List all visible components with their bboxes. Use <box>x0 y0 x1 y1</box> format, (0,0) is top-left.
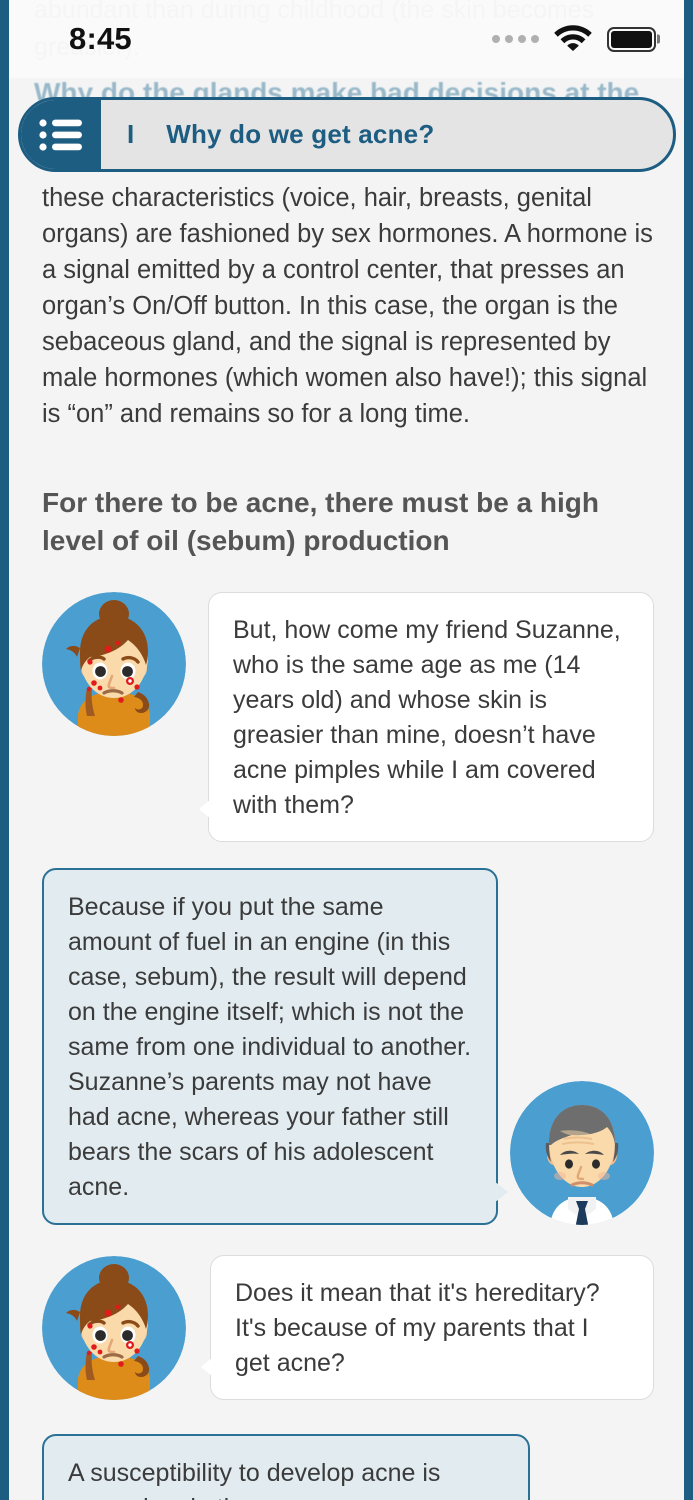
page-edge-right <box>684 0 693 1500</box>
doctor-avatar <box>510 1081 654 1225</box>
status-clock: 8:45 <box>69 21 132 57</box>
chapter-title-area[interactable]: I Why do we get acne? <box>101 100 673 169</box>
chapter-title: Why do we get acne? <box>166 119 434 150</box>
page-edge-left <box>0 0 9 1500</box>
article-content[interactable]: these characteristics (voice, hair, brea… <box>9 176 684 1500</box>
status-bar: 8:45 <box>9 0 684 78</box>
speech-text: Because if you put the same amount of fu… <box>68 893 471 1201</box>
signal-dots-icon <box>492 35 539 43</box>
girl-avatar <box>42 592 186 736</box>
wifi-icon <box>553 22 593 56</box>
list-menu-icon[interactable] <box>21 100 101 169</box>
dialogue-row-girl-2: Does it mean that it's hereditary? It's … <box>42 1255 654 1400</box>
speech-bubble-girl-2: Does it mean that it's hereditary? It's … <box>210 1255 654 1400</box>
phone-screen: abundant than during childhood (the skin… <box>0 0 693 1500</box>
speech-bubble-girl-1: But, how come my friend Suzanne, who is … <box>208 592 654 842</box>
speech-text: But, how come my friend Suzanne, who is … <box>233 616 621 819</box>
speech-text: Does it mean that it's hereditary? It's … <box>235 1279 600 1377</box>
section-heading: For there to be acne, there must be a hi… <box>42 484 654 560</box>
speech-bubble-doctor-1: Because if you put the same amount of fu… <box>42 868 498 1225</box>
dialogue-row-girl-1: But, how come my friend Suzanne, who is … <box>42 592 654 842</box>
dialogue-row-doctor-1: Because if you put the same amount of fu… <box>42 868 654 1225</box>
article-paragraph: these characteristics (voice, hair, brea… <box>42 180 654 432</box>
speech-bubble-doctor-2: A susceptibility to develop acne is pass… <box>42 1434 530 1500</box>
status-indicators <box>492 22 656 56</box>
speech-paragraph-1: A susceptibility to develop acne is pass… <box>68 1456 504 1500</box>
chapter-header-bar: I Why do we get acne? <box>18 97 676 172</box>
battery-full-icon <box>607 27 656 52</box>
chapter-number: I <box>127 119 134 150</box>
girl-avatar <box>42 1256 186 1400</box>
